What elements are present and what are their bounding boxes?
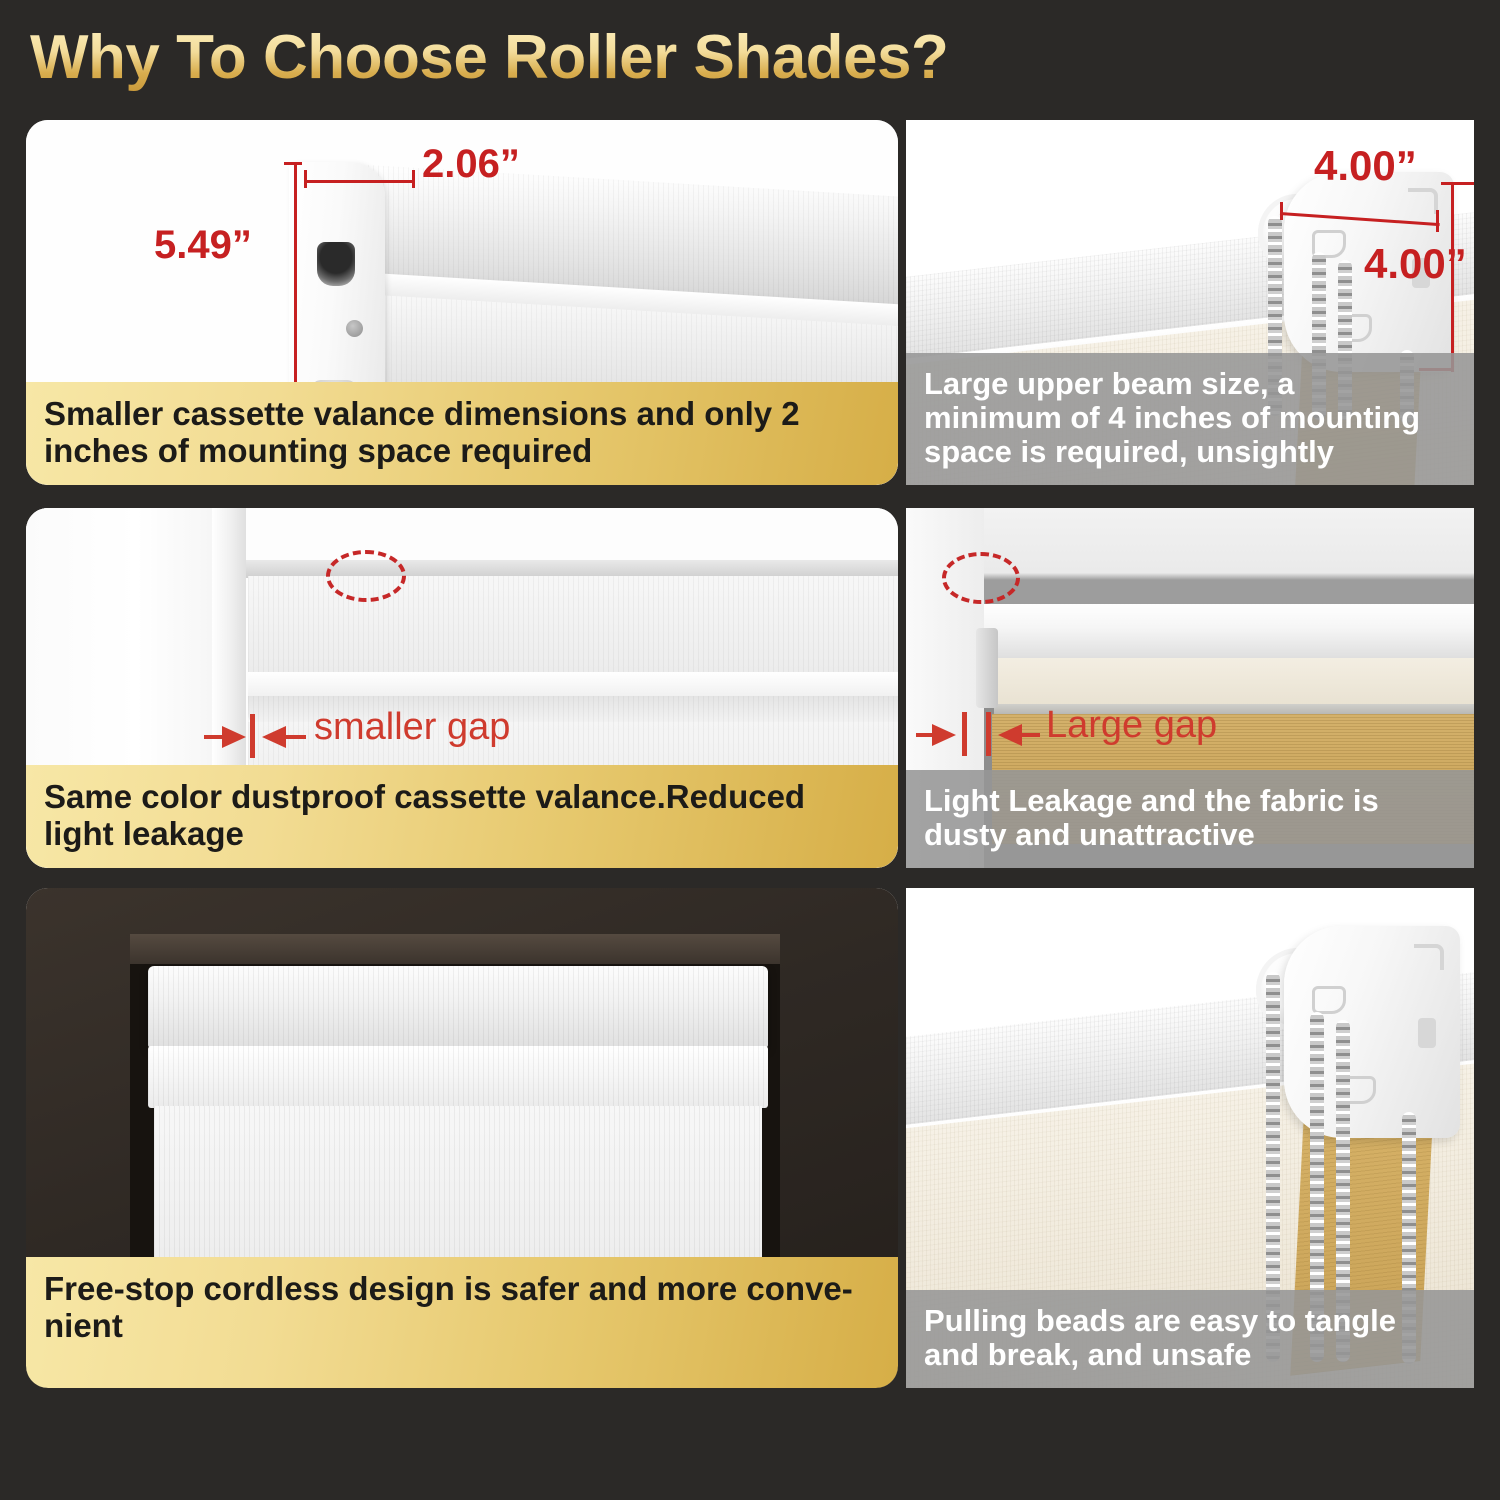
panel-light-leakage[interactable]: Large gap Light Leakage and the fabric i… — [906, 508, 1474, 868]
gap-marker-bar — [250, 714, 255, 758]
highlight-circle-icon — [942, 552, 1020, 604]
caption-line: Free-stop cordless design is safer and m… — [44, 1271, 880, 1307]
gap-arrow-left-icon — [262, 726, 286, 748]
gap-arrow-tail — [204, 735, 226, 739]
caption-light-leakage: Light Leakage and the fabric is dusty an… — [906, 770, 1474, 868]
bracket-tab-icon — [1414, 944, 1444, 970]
caption-free-stop-cordless: Free-stop cordless design is safer and m… — [26, 1257, 898, 1388]
gap-arrow-tail — [1020, 733, 1040, 737]
mounting-clip — [976, 628, 998, 708]
roller-tube-white — [984, 604, 1474, 662]
bracket-tab-icon — [1408, 188, 1438, 214]
roller-tube-cream — [988, 658, 1474, 706]
caption-line: Same color dustproof cassette valance.Re… — [44, 779, 880, 815]
beam-height-dimension-label: 4.00” — [1364, 240, 1467, 288]
comparison-grid: 2.06” 5.49” Smaller cassette valance dim… — [0, 0, 1500, 1500]
highlight-circle-icon — [326, 550, 406, 602]
caption-line: Smaller cassette valance dimensions and … — [44, 396, 880, 432]
gap-marker-bar — [962, 712, 967, 756]
caption-line: nient — [44, 1308, 880, 1344]
caption-line: inches of mounting space required — [44, 433, 880, 469]
shade-roller-section — [148, 1046, 768, 1108]
beam-width-tick-right — [1436, 210, 1439, 232]
width-dimension-label: 2.06” — [422, 142, 520, 187]
end-cap-screw-icon — [346, 320, 363, 337]
bracket-arrow-icon — [1312, 986, 1346, 1014]
bracket-notch-icon — [1418, 1018, 1436, 1048]
caption-large-upper-beam: Large upper beam size, a minimum of 4 in… — [906, 353, 1474, 485]
shade-cassette-valance — [148, 966, 768, 1048]
caption-line: Large upper beam size, a — [924, 367, 1456, 401]
panel-smaller-cassette-valance[interactable]: 2.06” 5.49” Smaller cassette valance dim… — [26, 120, 898, 485]
caption-line: Pulling beads are easy to tangle — [924, 1304, 1456, 1338]
width-dimension-line — [304, 180, 414, 183]
caption-dustproof-valance: Same color dustproof cassette valance.Re… — [26, 765, 898, 868]
shade-middle-rail — [248, 672, 898, 696]
caption-smaller-cassette-valance: Smaller cassette valance dimensions and … — [26, 382, 898, 485]
caption-line: light leakage — [44, 816, 880, 852]
beam-height-tick-top — [1441, 182, 1474, 185]
width-dimension-tick-left — [304, 170, 307, 188]
panel-free-stop-cordless[interactable]: Free-stop cordless design is safer and m… — [26, 888, 898, 1388]
height-dimension-tick-top — [284, 162, 302, 165]
large-gap-label: Large gap — [1046, 704, 1217, 747]
beam-width-tick-left — [1280, 202, 1283, 220]
height-dimension-label: 5.49” — [154, 223, 252, 268]
gap-arrow-tail — [916, 733, 936, 737]
caption-line: and break, and unsafe — [924, 1338, 1456, 1372]
caption-pulling-beads: Pulling beads are easy to tangle and bre… — [906, 1290, 1474, 1388]
caption-line: minimum of 4 inches of mounting — [924, 401, 1456, 435]
window-header-trim — [130, 934, 780, 964]
beam-width-dimension-label: 4.00” — [1314, 142, 1417, 190]
panel-pulling-beads[interactable]: Pulling beads are easy to tangle and bre… — [906, 888, 1474, 1388]
panel-large-upper-beam[interactable]: 4.00” 4.00” Large upper beam size, a min… — [906, 120, 1474, 485]
caption-line: space is required, unsightly — [924, 435, 1456, 469]
end-cap-slot-icon — [317, 242, 355, 286]
gap-arrow-tail — [284, 735, 306, 739]
gap-arrow-left-icon — [998, 724, 1022, 746]
smaller-gap-label: smaller gap — [314, 706, 510, 749]
caption-line: Light Leakage and the fabric is — [924, 784, 1456, 818]
panel-dustproof-valance[interactable]: smaller gap Same color dustproof cassett… — [26, 508, 898, 868]
caption-line: dusty and unattractive — [924, 818, 1456, 852]
gap-marker-bar — [986, 712, 991, 756]
width-dimension-tick-right — [412, 170, 415, 188]
